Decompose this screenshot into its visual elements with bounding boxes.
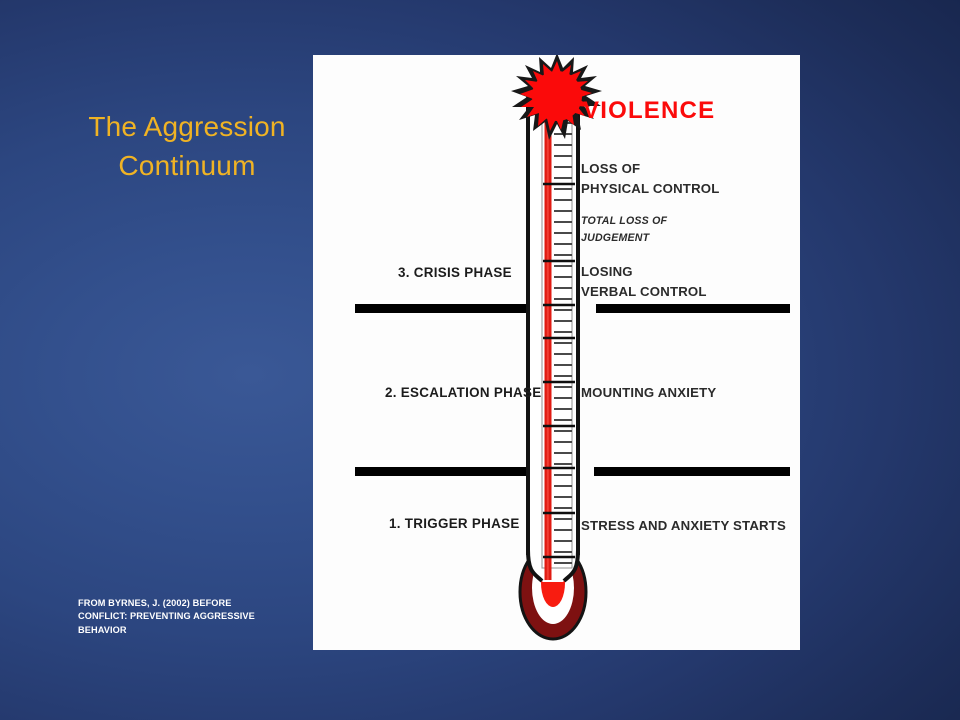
descriptor-loss-of-physical-control: LOSS OF PHYSICAL CONTROL (581, 159, 720, 199)
phase-label-escalation: 2. ESCALATION PHASE (385, 385, 542, 400)
descriptor-total-loss-of-judgement: TOTAL LOSS OF JUDGEMENT (581, 213, 667, 247)
aggression-continuum-diagram: VIOLENCE 3. CRISIS PHASE 2. ESCALATION P… (313, 55, 800, 650)
divider-crisis-right (596, 304, 790, 313)
divider-crisis-left (355, 304, 526, 313)
descriptor-stress-and-anxiety-starts: STRESS AND ANXIETY STARTS (581, 516, 786, 536)
page-title: The Aggression Continuum (52, 108, 322, 185)
source-citation: FROM BYRNES, J. (2002) BEFORE CONFLICT: … (78, 597, 273, 637)
descriptor-mounting-anxiety: MOUNTING ANXIETY (581, 383, 716, 403)
phase-label-crisis: 3. CRISIS PHASE (398, 265, 512, 280)
slide-canvas: The Aggression Continuum FROM BYRNES, J.… (0, 0, 960, 720)
violence-headline: VIOLENCE (583, 97, 715, 125)
phase-label-trigger: 1. TRIGGER PHASE (389, 516, 520, 531)
divider-escalation-right (594, 467, 790, 476)
descriptor-losing-verbal-control: LOSING VERBAL CONTROL (581, 262, 707, 302)
